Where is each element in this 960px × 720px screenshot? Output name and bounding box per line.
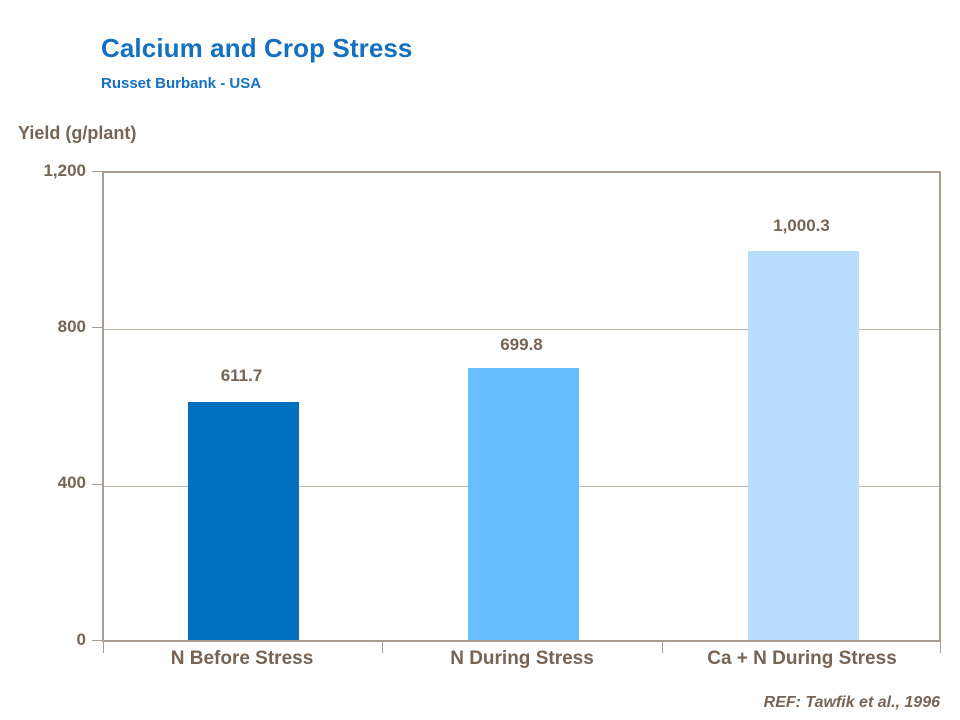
y-tick-label-800: 800 [14, 317, 86, 337]
y-tick-label-1200: 1,200 [14, 161, 86, 181]
y-axis-title: Yield (g/plant) [18, 123, 136, 144]
x-category-label-2: N During Stress [382, 648, 662, 670]
bar-value-label-3: 1,000.3 [746, 216, 857, 236]
y-tick-label-0: 0 [14, 630, 86, 650]
x-category-label-1: N Before Stress [102, 648, 382, 670]
x-category-label-3: Ca + N During Stress [662, 648, 942, 670]
bar-value-label-1: 611.7 [186, 366, 297, 386]
y-tick-label-400: 400 [14, 473, 86, 493]
page-title: Calcium and Crop Stress [101, 33, 413, 64]
bar-n-during-stress[interactable] [468, 368, 579, 640]
bar-n-before-stress[interactable] [188, 402, 299, 640]
bar-value-label-2: 699.8 [466, 335, 577, 355]
chart-subtitle: Russet Burbank - USA [101, 75, 261, 92]
reference-note: REF: Tawfik et al., 1996 [764, 694, 940, 712]
bar-ca-plus-n-during-stress[interactable] [748, 251, 859, 640]
plot-area [102, 171, 941, 642]
